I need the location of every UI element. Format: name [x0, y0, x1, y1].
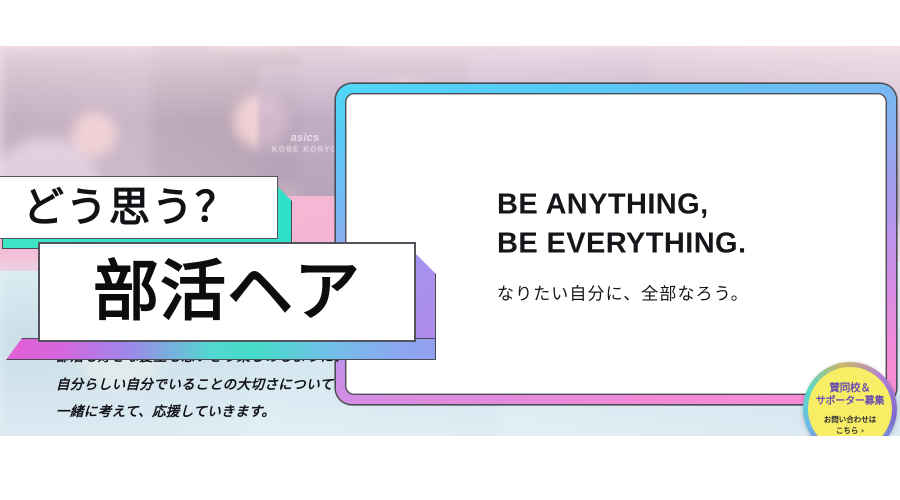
hero-banner: asics KOBE KORYO どう思う？ 部活ヘア 部活も好きな髪型も思いき…	[0, 46, 900, 436]
kicker-face: どう思う？	[0, 176, 278, 239]
headline-face: 部活ヘア	[38, 242, 416, 342]
statement-english-line-1: BE ANYTHING,	[497, 185, 749, 224]
badge-title-line-1: 賛同校＆	[829, 382, 870, 395]
body-line-2: 自分らしい自分でいることの大切さについて	[56, 372, 348, 400]
statement-content: BE ANYTHING, BE EVERYTHING. なりたい自分に、全部なろ…	[497, 185, 749, 304]
page-root: asics KOBE KORYO どう思う？ 部活ヘア 部活も好きな髪型も思いき…	[0, 0, 900, 500]
badge-disc[interactable]: 賛同校＆ サポーター募集 お問い合わせは こちら ›	[808, 367, 892, 436]
headline-box: 部活ヘア	[38, 242, 428, 348]
badge-cta-line-1: お問い合わせは	[824, 415, 877, 425]
statement-english-line-2: BE EVERYTHING.	[497, 224, 749, 263]
body-line-3: 一緒に考えて、応援していきます。	[56, 399, 348, 427]
headline-text: 部活ヘア	[93, 259, 361, 325]
badge-cta-line-2: こちら ›	[836, 426, 864, 436]
statement-japanese-tagline: なりたい自分に、全部なろう。	[497, 280, 749, 305]
kicker-box: どう思う？	[0, 176, 284, 242]
kicker-text: どう思う？	[23, 187, 238, 228]
badge-title-line-2: サポーター募集	[816, 396, 885, 409]
